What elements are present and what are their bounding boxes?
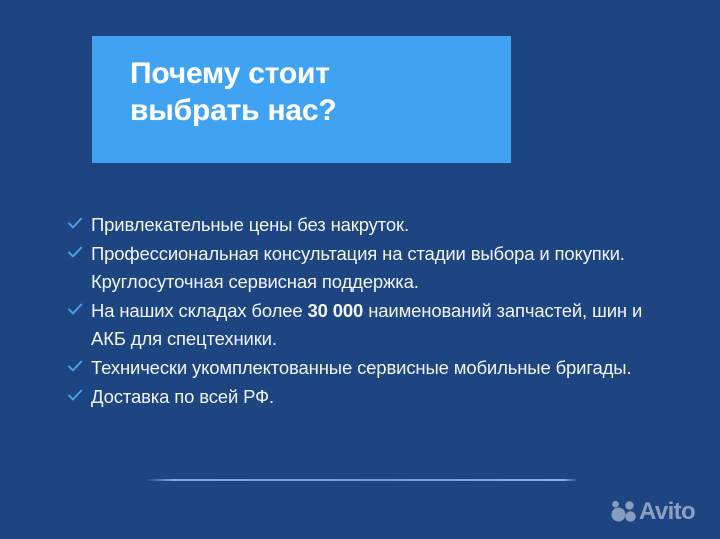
list-item-label: На наших складах более 30 000 наименован… bbox=[91, 297, 666, 354]
list-item: Привлекательные цены без накруток. bbox=[66, 211, 666, 240]
avito-wordmark: Avito bbox=[639, 500, 695, 524]
list-item: Доставка по всей РФ. bbox=[66, 383, 666, 412]
check-icon bbox=[67, 358, 83, 374]
list-item: Профессиональная консультация на стадии … bbox=[66, 240, 666, 297]
emphasized-figure: 30 000 bbox=[308, 300, 364, 321]
list-item: На наших складах более 30 000 наименован… bbox=[66, 297, 666, 354]
check-icon bbox=[67, 244, 83, 260]
heading-banner: Почему стоит выбрать нас? bbox=[92, 36, 511, 163]
text-run: На наших складах более bbox=[91, 300, 308, 321]
list-item-label: Технически укомплектованные сервисные мо… bbox=[91, 354, 666, 383]
list-item-label: Профессиональная консультация на стадии … bbox=[91, 240, 666, 297]
list-item-label: Привлекательные цены без накруток. bbox=[91, 211, 666, 240]
check-icon bbox=[67, 301, 83, 317]
avito-dots-icon bbox=[610, 500, 638, 524]
divider bbox=[148, 479, 576, 481]
page-title: Почему стоит выбрать нас? bbox=[130, 55, 337, 129]
check-icon bbox=[67, 387, 83, 403]
benefits-list: Привлекательные цены без накруток.Профес… bbox=[66, 211, 666, 411]
list-item-label: Доставка по всей РФ. bbox=[91, 383, 666, 412]
presentation-slide: Почему стоит выбрать нас? Привлекательны… bbox=[0, 0, 720, 539]
list-item: Технически укомплектованные сервисные мо… bbox=[66, 354, 666, 383]
avito-watermark: Avito bbox=[610, 496, 710, 528]
text-run: Доставка по всей РФ. bbox=[91, 386, 274, 407]
text-run: Профессиональная консультация на стадии … bbox=[91, 243, 625, 293]
check-icon bbox=[67, 215, 83, 231]
text-run: Привлекательные цены без накруток. bbox=[91, 214, 409, 235]
text-run: Технически укомплектованные сервисные мо… bbox=[91, 357, 631, 378]
